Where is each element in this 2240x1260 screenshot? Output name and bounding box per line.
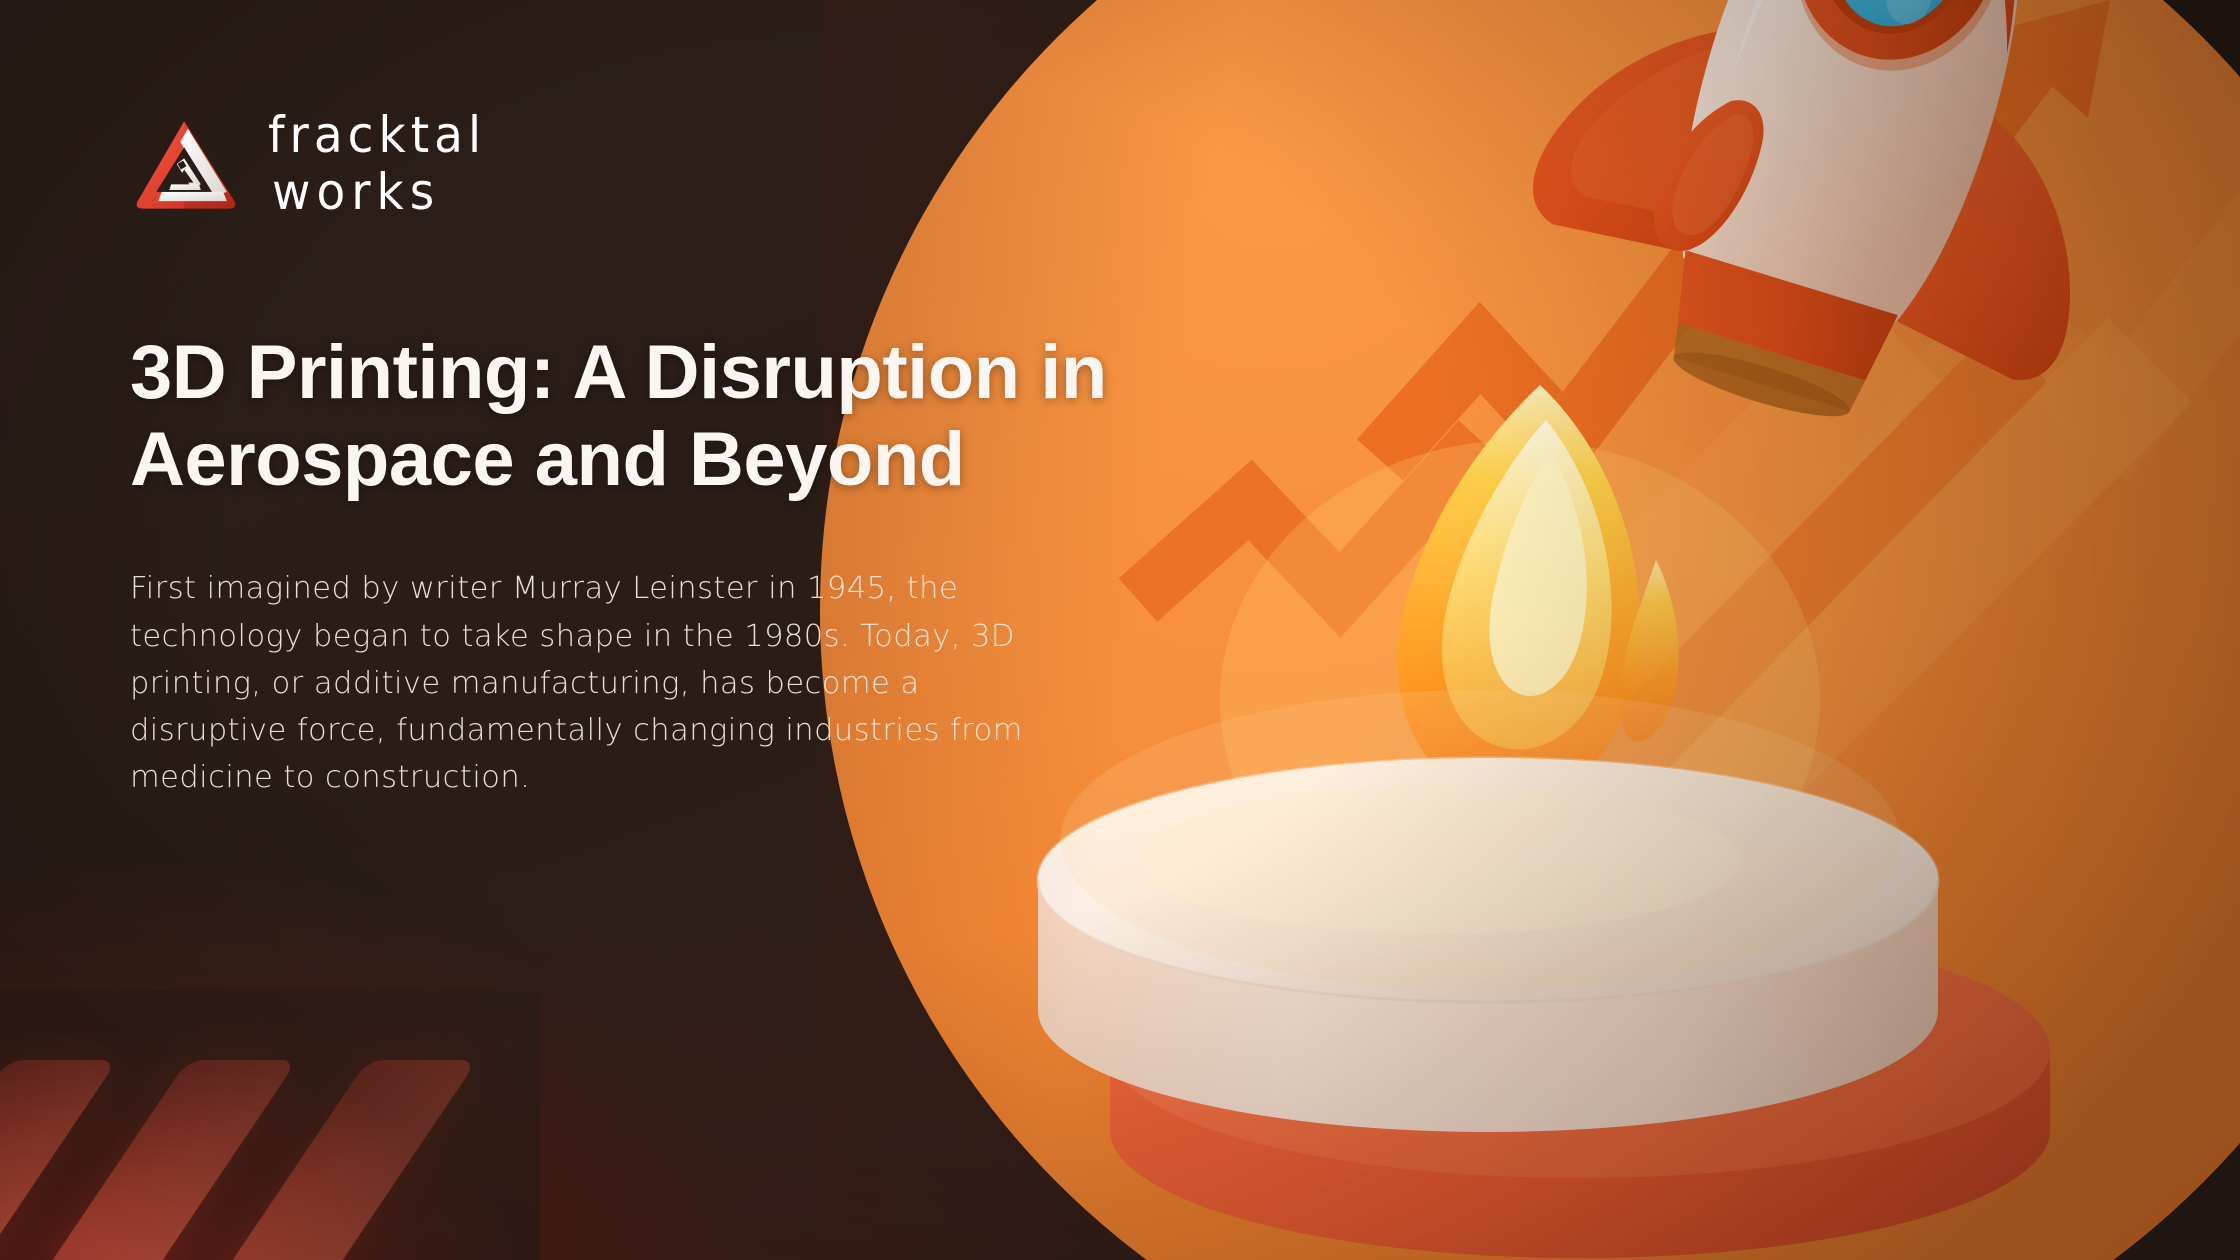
brand-logo[interactable]: fracktal works [130, 112, 1200, 216]
brand-wordmark: fracktal works [268, 112, 486, 216]
left-content-column: fracktal works 3D Printing: A Disruption… [0, 0, 1200, 1260]
wordmark-line-1: fracktal [268, 111, 486, 161]
page-title: 3D Printing: A Disruption in Aerospace a… [130, 330, 1150, 503]
hero-body-text: First imagined by writer Murray Leinster… [130, 565, 1060, 801]
wordmark-line-2: works [268, 168, 486, 218]
hero-banner: fracktal works 3D Printing: A Disruption… [0, 0, 2240, 1260]
fracktal-penrose-triangle-logo-icon [130, 112, 242, 216]
